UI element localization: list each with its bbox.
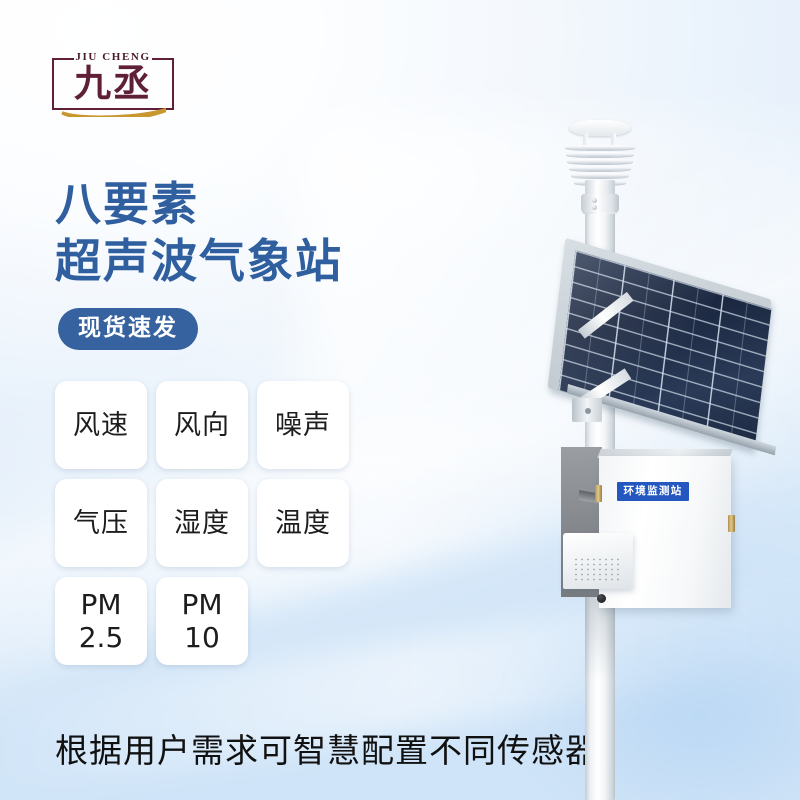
sensor-port-dot — [592, 205, 597, 210]
enclosure-hinge — [595, 485, 602, 502]
enclosure-latch — [728, 515, 735, 532]
feature-tile-label: 湿度 — [174, 508, 230, 539]
feature-tile-label: PM 2.5 — [79, 588, 124, 654]
headline-line-2: 超声波气象站 — [55, 232, 475, 290]
vented-sensor-box — [563, 533, 633, 589]
headline-line-1: 八要素 — [55, 176, 475, 232]
radiation-shield-fin — [565, 145, 635, 150]
feature-tile-label: PM 10 — [181, 588, 222, 654]
status-badge-label: 现货速发 — [78, 315, 178, 341]
bracket-bolt — [585, 408, 591, 414]
feature-tile-label: 风速 — [73, 410, 129, 441]
ultrasonic-weather-sensor — [561, 120, 639, 210]
feature-tile-pm10[interactable]: PM 10 — [156, 577, 248, 665]
status-badge: 现货速发 — [58, 308, 198, 350]
brand-logo: JIU CHENG 九丞 — [52, 50, 174, 118]
feature-tile-label: 噪声 — [275, 410, 331, 441]
feature-tile-wind-speed[interactable]: 风速 — [55, 381, 147, 469]
feature-tile-label: 风向 — [174, 410, 230, 441]
enclosure-label-text: 环境监测站 — [624, 486, 683, 497]
control-enclosure: 环境监测站 — [561, 447, 741, 615]
radiation-shield-fin — [566, 152, 634, 157]
feature-tile-label: 温度 — [275, 508, 331, 539]
feature-tile-wind-direction[interactable]: 风向 — [156, 381, 248, 469]
logo-swoosh-decor — [60, 102, 166, 117]
feature-tile-air-pressure[interactable]: 气压 — [55, 479, 147, 567]
feature-tile-humidity[interactable]: 湿度 — [156, 479, 248, 567]
feature-tile-grid: 风速 风向 噪声 气压 湿度 温度 PM 2.5 PM 10 — [55, 381, 367, 665]
logo-english-text: JIU CHENG — [52, 51, 174, 63]
enclosure-label: 环境监测站 — [617, 482, 689, 501]
radiation-shield-fin — [567, 159, 633, 164]
product-poster: JIU CHENG 九丞 八要素 超声波气象站 现货速发 风速 风向 噪声 气压… — [0, 0, 800, 800]
enclosure-bottom-bolt — [597, 594, 606, 603]
radiation-shield-fin — [569, 166, 631, 171]
feature-tile-label: 气压 — [73, 508, 129, 539]
tagline-text: 根据用户需求可智慧配置不同传感器 — [55, 731, 599, 770]
sensor-neck — [581, 194, 619, 212]
vent-holes-decor — [573, 557, 621, 581]
feature-tile-noise[interactable]: 噪声 — [257, 381, 349, 469]
logo-chinese-text: 九丞 — [52, 66, 174, 103]
sensor-top-cap — [569, 120, 631, 136]
page-title: 八要素 超声波气象站 — [55, 176, 475, 290]
feature-tile-pm25[interactable]: PM 2.5 — [55, 577, 147, 665]
tagline: 根据用户需求可智慧配置不同传感器 — [55, 731, 755, 771]
sensor-port-dot — [592, 198, 597, 203]
radiation-shield-fin — [571, 173, 629, 178]
feature-tile-temperature[interactable]: 温度 — [257, 479, 349, 567]
